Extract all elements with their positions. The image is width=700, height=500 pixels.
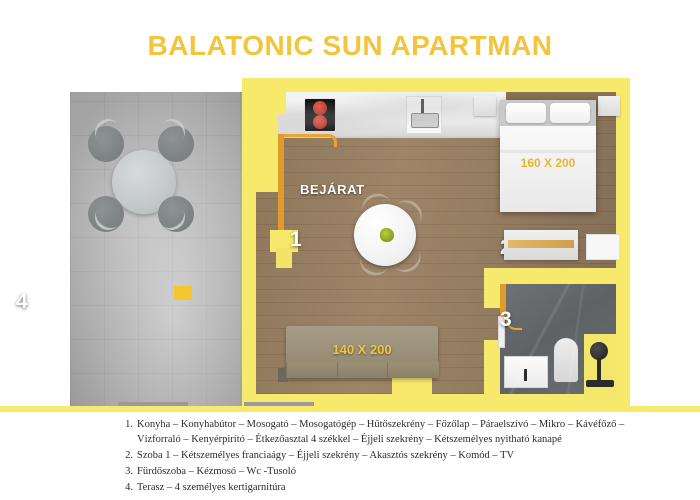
pillow [506,103,546,123]
title-divider [0,406,700,412]
legend-text: Terasz – 4 személyes kertigarnitúra [137,481,658,496]
dresser-top [508,240,574,248]
terrace-area: 4 [70,92,245,408]
bathroom-area [500,284,616,394]
legend-number: 4. [118,481,133,496]
burner-icon [313,101,327,115]
wall-bathroom-left [484,268,500,308]
entrance-label: BEJÁRAT [300,182,365,197]
floorplan-page: BALATONIC SUN APARTMAN 4 [0,0,700,500]
dining-table [354,204,416,266]
legend-number: 3. [118,465,133,480]
bathroom-sink-icon [504,356,548,388]
bed-blanket-fold [500,150,596,153]
legend-item: 3. Fürdőszoba – Kézmosó – Wc -Tusoló [118,465,658,480]
terrace-marker [174,286,192,300]
kitchen-sink-icon [406,96,442,134]
dresser-komod [504,230,578,260]
cooktop-icon [304,98,336,132]
legend-text: Konyha – Konyhabútor – Mosogató – Mosoga… [137,418,658,448]
nightstand [598,96,620,116]
table-plant-icon [380,228,394,242]
wall-bedroom-divider [484,340,500,394]
sofa-cushion [337,362,389,378]
room-number-terrace: 4 [16,290,28,314]
legend-number: 2. [118,449,133,464]
legend-number: 1. [118,418,133,448]
sink-drain-icon [524,369,527,381]
bed-size-label: 160 X 200 [500,156,596,170]
sofa-size-label: 140 X 200 [286,342,438,357]
shower-bar-icon [597,358,601,380]
faucet-icon [421,99,424,114]
kitchen-counter [256,92,506,138]
sink-basin [411,113,439,128]
pillow [550,103,590,123]
room-number-bathroom: 3 [500,308,512,332]
floorplan-canvas: 4 [70,78,630,408]
legend-item: 2. Szoba 1 – Kétszemélyes franciaágy – É… [118,449,658,464]
entrance-door [278,134,284,232]
shower-head-icon [590,342,608,360]
burner-icon [313,115,327,129]
toilet-icon [554,338,578,382]
legend-item: 4. Terasz – 4 személyes kertigarnitúra [118,481,658,496]
tv-shelf [586,234,620,260]
wall-bathroom-top [484,268,616,284]
legend-item: 1. Konyha – Konyhabútor – Mosogató – Mos… [118,418,658,448]
room-number-living: 1 [290,228,302,252]
page-title: BALATONIC SUN APARTMAN [0,30,700,62]
shower-area [584,334,616,400]
sofa-cushion [286,362,338,378]
sofa-bed: 140 X 200 [286,326,438,378]
door-swing-arc [284,134,337,147]
double-bed: 160 X 200 [500,100,596,212]
legend-text: Fürdőszoba – Kézmosó – Wc -Tusoló [137,465,658,480]
shower-tray [586,380,614,387]
wall-kitchen-top [256,92,286,114]
apartment-outline: BEJÁRAT 1 140 X 200 [242,78,630,408]
nightstand [474,96,496,116]
legend-text: Szoba 1 – Kétszemélyes franciaágy – Éjje… [137,449,658,464]
legend: 1. Konyha – Konyhabútor – Mosogató – Mos… [118,418,658,497]
sofa-cushion [387,362,439,378]
